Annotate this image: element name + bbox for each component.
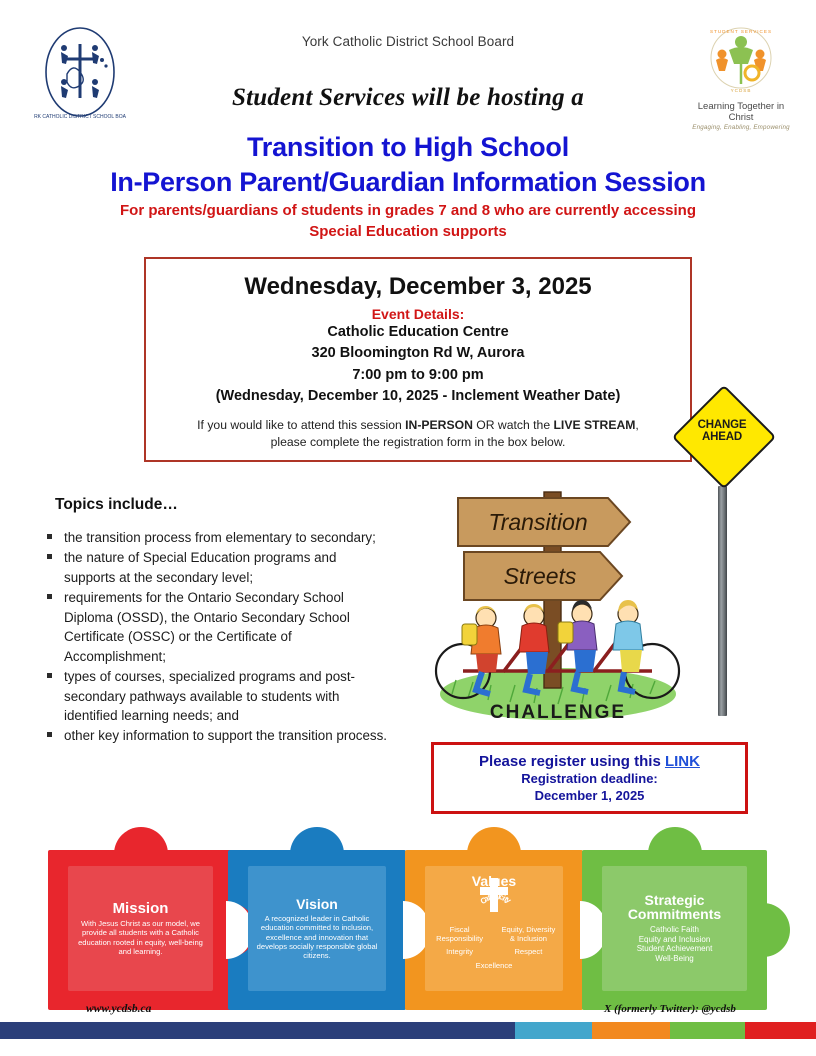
puzzle-piece-strategic-commitments: Strategic Commitments Catholic Faith Equ… xyxy=(582,850,767,1010)
illustration-caption: CHALLENGE xyxy=(490,702,626,723)
square-bullet-icon xyxy=(47,673,52,678)
event-alt-date: (Wednesday, December 10, 2025 - Inclemen… xyxy=(146,386,690,407)
square-bullet-icon xyxy=(47,534,52,539)
bar-segment-orange xyxy=(592,1022,670,1039)
cross-icon xyxy=(477,878,511,912)
list-item: the nature of Special Education programs… xyxy=(40,548,390,587)
event-venue: Catholic Education Centre xyxy=(146,322,690,343)
value-item: Fiscal Responsibility xyxy=(433,926,487,944)
puzzle-knob-right xyxy=(744,903,790,957)
commitment-item: Well-Being xyxy=(655,954,694,964)
values-grid: Fiscal Responsibility Equity, Diversity … xyxy=(429,910,560,972)
registration-link[interactable]: LINK xyxy=(665,753,700,770)
signpost-bottom-label: Streets xyxy=(504,563,577,589)
event-note: If you would like to attend this session… xyxy=(146,417,690,452)
event-details-label: Event Details: xyxy=(146,306,690,322)
flyer-title-line2: In-Person Parent/Guardian Information Se… xyxy=(0,167,816,198)
value-item: Equity, Diversity & Inclusion xyxy=(501,926,555,944)
event-address: 320 Bloomington Rd W, Aurora xyxy=(146,343,690,364)
value-item: Integrity xyxy=(433,948,487,957)
puzzle-footer: Mission With Jesus Christ as our model, … xyxy=(0,826,816,1016)
website-text: www.ycdsb.ca xyxy=(86,1003,151,1015)
transition-streets-illustration: Transition Streets xyxy=(430,466,685,728)
event-note-livestream: LIVE STREAM xyxy=(553,418,635,432)
topics-heading: Topics include… xyxy=(55,496,178,514)
list-item: requirements for the Ontario Secondary S… xyxy=(40,588,390,666)
topic-text: types of courses, specialized programs a… xyxy=(64,669,355,723)
sign-line1: CHANGE xyxy=(673,419,771,431)
event-time: 7:00 pm to 9:00 pm xyxy=(146,365,690,386)
event-note-inperson: IN-PERSON xyxy=(405,418,473,432)
signpost-top-label: Transition xyxy=(488,509,587,535)
bar-segment-teal xyxy=(515,1022,592,1039)
event-date: Wednesday, December 3, 2025 xyxy=(146,273,690,301)
hosting-line: Student Services will be hosting a xyxy=(0,84,816,112)
topics-list: the transition process from elementary t… xyxy=(40,528,390,747)
bar-segment-red xyxy=(745,1022,816,1039)
logo-subtagline: Engaging, Enabling, Empowering xyxy=(686,124,796,131)
square-bullet-icon xyxy=(47,732,52,737)
event-details-box: Wednesday, December 3, 2025 Event Detail… xyxy=(144,257,692,462)
sign-post xyxy=(718,486,727,716)
square-bullet-icon xyxy=(47,594,52,599)
register-line: Please register using this LINK xyxy=(434,753,745,770)
register-prefix: Please register using this xyxy=(479,753,665,770)
svg-text:STUDENT SERVICES: STUDENT SERVICES xyxy=(710,29,772,34)
puzzle-body-text: A recognized leader in Catholic educatio… xyxy=(252,914,383,960)
topic-text: requirements for the Ontario Secondary S… xyxy=(64,590,350,663)
flyer-page: YORK CATHOLIC DISTRICT SCHOOL BOARD York… xyxy=(0,0,816,1056)
puzzle-title: Strategic Commitments xyxy=(606,893,742,922)
flyer-title-line1: Transition to High School xyxy=(0,132,816,163)
puzzle-body-text: With Jesus Christ as our model, we provi… xyxy=(72,919,208,956)
commitment-item: Equity and Inclusion xyxy=(639,935,711,945)
puzzle-title: Mission xyxy=(113,901,169,917)
bar-segment-green xyxy=(670,1022,745,1039)
registration-box[interactable]: Please register using this LINK Registra… xyxy=(431,742,748,814)
event-note-line2: please complete the registration form in… xyxy=(158,434,678,451)
puzzle-piece-mission: Mission With Jesus Christ as our model, … xyxy=(48,850,233,1010)
value-item: Respect xyxy=(501,948,555,957)
bottom-color-bar xyxy=(0,1022,816,1039)
commitment-item: Catholic Faith xyxy=(650,925,699,935)
puzzle-piece-vision: Vision A recognized leader in Catholic e… xyxy=(228,850,406,1010)
flyer-subtitle: For parents/guardians of students in gra… xyxy=(98,200,718,243)
event-note-suffix: , xyxy=(635,418,638,432)
svg-text:YORK CATHOLIC DISTRICT SCHOOL: YORK CATHOLIC DISTRICT SCHOOL BOARD xyxy=(34,114,126,120)
list-item: types of courses, specialized programs a… xyxy=(40,667,390,725)
bar-segment-navy xyxy=(0,1022,515,1039)
topic-text: the transition process from elementary t… xyxy=(64,530,376,545)
deadline-label: Registration deadline: xyxy=(434,770,745,787)
diamond-sign-icon: CHANGE AHEAD xyxy=(673,386,771,484)
value-item: Excellence xyxy=(429,962,560,971)
list-item: other key information to support the tra… xyxy=(40,726,390,745)
square-bullet-icon xyxy=(47,554,52,559)
social-handle-text: X (formerly Twitter): @ycdsb xyxy=(604,1003,736,1015)
topic-text: the nature of Special Education programs… xyxy=(64,550,336,584)
event-note-mid: OR watch the xyxy=(473,418,554,432)
sign-line2: AHEAD xyxy=(673,431,771,443)
event-note-prefix: If you would like to attend this session xyxy=(197,418,405,432)
puzzle-piece-values: Values C a t h o l i c i t y Fi xyxy=(405,850,583,1010)
commitment-item: Student Achievement xyxy=(637,944,713,954)
deadline-date: December 1, 2025 xyxy=(434,787,745,804)
topic-text: other key information to support the tra… xyxy=(64,728,387,743)
list-item: the transition process from elementary t… xyxy=(40,528,390,547)
puzzle-title: Vision xyxy=(296,897,338,912)
